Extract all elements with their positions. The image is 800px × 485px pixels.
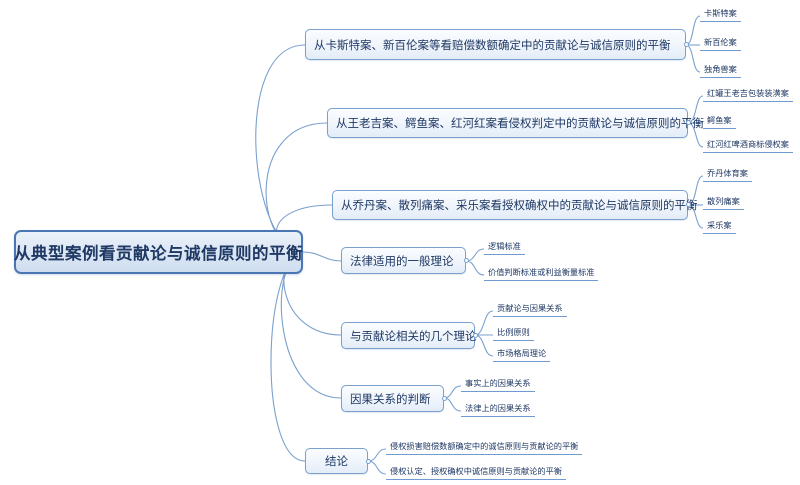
branch-node-7[interactable]: 结论 — [305, 448, 368, 474]
branch-node-3[interactable]: 从乔丹案、散列痛案、采乐案看授权确权中的贡献论与诚信原则的平衡 — [332, 190, 688, 220]
leaf-node-5-2[interactable]: 比例原则 — [493, 327, 534, 341]
leaf-node-3-2[interactable]: 散列痛案 — [703, 196, 744, 210]
leaf-node-2-1-label: 红罐王老吉包装装潢案 — [707, 89, 789, 98]
leaf-node-4-2[interactable]: 价值判断标准或利益衡量标准 — [484, 267, 598, 281]
leaf-node-4-2-label: 价值判断标准或利益衡量标准 — [488, 268, 594, 277]
leaf-node-1-1[interactable]: 卡斯特案 — [700, 8, 741, 22]
leaf-node-1-3-label: 独角兽案 — [704, 65, 737, 74]
leaf-node-3-3[interactable]: 采乐案 — [703, 220, 736, 234]
branch-node-2[interactable]: 从王老吉案、鳄鱼案、红河红案看侵权判定中的贡献论与诚信原则的平衡 — [327, 108, 688, 138]
branch-node-7-label: 结论 — [325, 453, 348, 469]
leaf-node-1-2[interactable]: 新百伦案 — [700, 37, 741, 51]
leaf-node-2-3[interactable]: 红河红啤酒商标侵权案 — [703, 139, 793, 153]
leaf-node-6-1[interactable]: 事实上的因果关系 — [461, 378, 535, 392]
leaf-node-2-2-label: 鳄鱼案 — [707, 116, 732, 125]
leaf-node-5-3[interactable]: 市场格局理论 — [493, 348, 550, 362]
branch-node-1-label: 从卡斯特案、新百伦案等看赔偿数额确定中的贡献论与诚信原则的平衡 — [314, 37, 671, 53]
leaf-node-3-2-label: 散列痛案 — [707, 197, 740, 206]
leaf-node-4-1[interactable]: 逻辑标准 — [484, 241, 525, 255]
leaf-node-5-2-label: 比例原则 — [497, 328, 530, 337]
mindmap-canvas: 从典型案例看贡献论与诚信原则的平衡 从卡斯特案、新百伦案等看赔偿数额确定中的贡献… — [0, 0, 800, 485]
branch-node-4[interactable]: 法律适用的一般理论 — [341, 247, 466, 274]
leaf-node-1-2-label: 新百伦案 — [704, 38, 737, 47]
leaf-node-1-1-label: 卡斯特案 — [704, 9, 737, 18]
root-node[interactable]: 从典型案例看贡献论与诚信原则的平衡 — [14, 230, 303, 274]
junction-dot-1 — [684, 42, 689, 47]
leaf-node-1-3[interactable]: 独角兽案 — [700, 64, 741, 78]
leaf-node-2-2[interactable]: 鳄鱼案 — [703, 115, 736, 129]
leaf-node-7-2[interactable]: 侵权认定、授权确权中诚信原则与贡献论的平衡 — [386, 466, 566, 480]
junction-dot-6 — [442, 396, 447, 401]
leaf-node-7-1[interactable]: 侵权损害赔偿数额确定中的诚信原则与贡献论的平衡 — [386, 441, 582, 455]
leaf-node-3-1-label: 乔丹体育案 — [707, 169, 748, 178]
leaf-node-6-2[interactable]: 法律上的因果关系 — [461, 403, 535, 417]
leaf-node-5-3-label: 市场格局理论 — [497, 349, 546, 358]
branch-node-5[interactable]: 与贡献论相关的几个理论 — [341, 322, 475, 349]
branch-node-5-label: 与贡献论相关的几个理论 — [350, 328, 477, 344]
junction-dot-4 — [464, 258, 469, 263]
junction-dot-2 — [686, 120, 691, 125]
leaf-node-7-1-label: 侵权损害赔偿数额确定中的诚信原则与贡献论的平衡 — [390, 442, 578, 451]
branch-node-6[interactable]: 因果关系的判断 — [341, 385, 444, 412]
leaf-node-2-3-label: 红河红啤酒商标侵权案 — [707, 140, 789, 149]
junction-dot-5 — [473, 333, 478, 338]
leaf-node-7-2-label: 侵权认定、授权确权中诚信原则与贡献论的平衡 — [390, 467, 562, 476]
branch-node-6-label: 因果关系的判断 — [350, 391, 431, 407]
leaf-node-3-3-label: 采乐案 — [707, 221, 732, 230]
branch-node-1[interactable]: 从卡斯特案、新百伦案等看赔偿数额确定中的贡献论与诚信原则的平衡 — [305, 29, 686, 60]
leaf-node-5-1-label: 贡献论与因果关系 — [497, 304, 563, 313]
junction-dot-7 — [366, 459, 371, 464]
junction-dot-3 — [686, 202, 691, 207]
branch-node-4-label: 法律适用的一般理论 — [350, 253, 454, 269]
leaf-node-2-1[interactable]: 红罐王老吉包装装潢案 — [703, 88, 793, 102]
leaf-node-4-1-label: 逻辑标准 — [488, 242, 521, 251]
leaf-node-3-1[interactable]: 乔丹体育案 — [703, 168, 752, 182]
leaf-node-5-1[interactable]: 贡献论与因果关系 — [493, 303, 567, 317]
leaf-node-6-2-label: 法律上的因果关系 — [465, 404, 531, 413]
branch-node-3-label: 从乔丹案、散列痛案、采乐案看授权确权中的贡献论与诚信原则的平衡 — [341, 197, 698, 213]
leaf-node-6-1-label: 事实上的因果关系 — [465, 379, 531, 388]
root-node-label: 从典型案例看贡献论与诚信原则的平衡 — [14, 240, 303, 264]
branch-node-2-label: 从王老吉案、鳄鱼案、红河红案看侵权判定中的贡献论与诚信原则的平衡 — [336, 115, 704, 131]
